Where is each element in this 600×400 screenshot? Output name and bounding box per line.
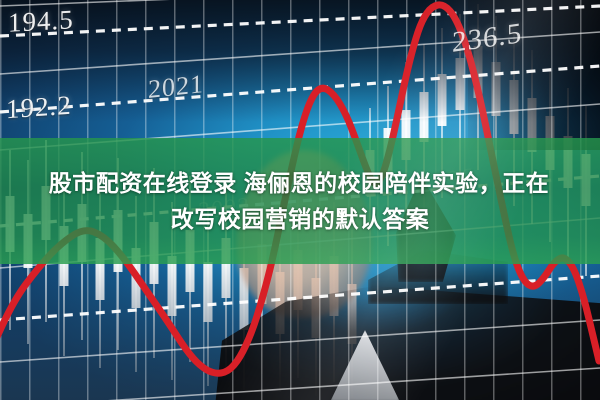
axis-value-label-192: 192.2	[6, 90, 72, 126]
axis-value-label-2021: 2021	[148, 69, 204, 105]
banner-image: 194.5 192.2 2021 236.5 2003 2396 股市配资在线登…	[0, 0, 600, 400]
axis-value-label-194: 194.5	[8, 4, 74, 38]
headline-line-2: 改写校园营销的默认答案	[171, 201, 430, 237]
headline-band: 股市配资在线登录 海俪恩的校园陪伴实验，正在 改写校园营销的默认答案	[0, 138, 600, 264]
headline-line-1: 股市配资在线登录 海俪恩的校园陪伴实验，正在	[49, 165, 549, 201]
